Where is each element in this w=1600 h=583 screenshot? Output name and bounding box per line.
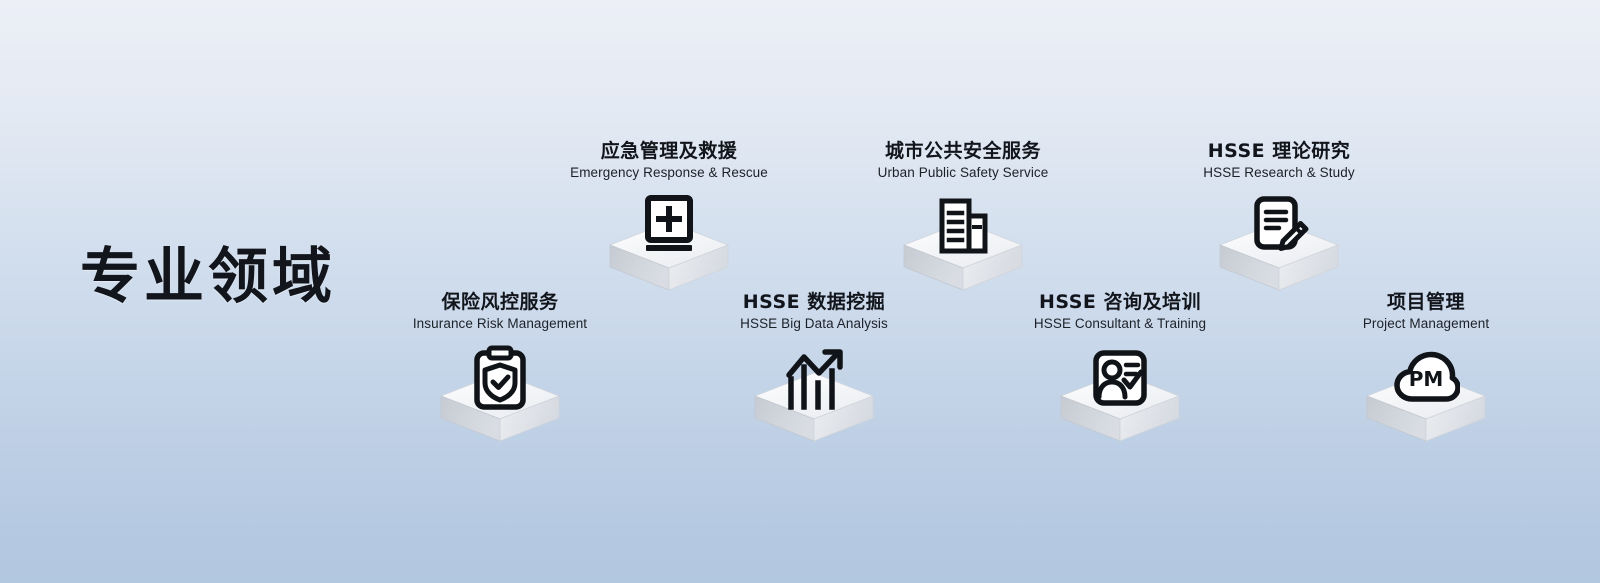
service-title-cn: HSSE 咨询及培训 xyxy=(990,291,1250,313)
service-item-hsse-research[interactable]: HSSE 理论研究HSSE Research & Study xyxy=(1149,140,1409,304)
service-title-en: Project Management xyxy=(1296,315,1556,333)
service-item-emergency-response[interactable]: 应急管理及救援Emergency Response & Rescue xyxy=(539,140,799,304)
service-title-en: Emergency Response & Rescue xyxy=(539,164,799,182)
buildings-icon xyxy=(929,194,997,262)
cloud-pm-label: PM xyxy=(1409,367,1444,391)
service-title-cn: HSSE 理论研究 xyxy=(1149,140,1409,162)
service-title-en: HSSE Big Data Analysis xyxy=(684,315,944,333)
service-item-hsse-consultant[interactable]: HSSE 咨询及培训HSSE Consultant & Training xyxy=(990,291,1250,455)
service-title-en: Insurance Risk Management xyxy=(370,315,630,333)
id-card-person-check-icon xyxy=(1086,345,1154,413)
service-icon-platform xyxy=(990,345,1250,455)
first-aid-kit-icon xyxy=(635,194,703,262)
service-icon-platform xyxy=(370,345,630,455)
page-title: 专业领域 xyxy=(80,228,336,315)
service-icon-platform: PM xyxy=(1296,345,1556,455)
service-icon-platform xyxy=(833,194,1093,304)
service-icon-platform xyxy=(1149,194,1409,304)
cloud-pm-icon: PM xyxy=(1392,345,1460,413)
service-item-project-management[interactable]: 项目管理Project Management PM xyxy=(1296,291,1556,455)
service-item-hsse-big-data[interactable]: HSSE 数据挖掘HSSE Big Data Analysis xyxy=(684,291,944,455)
service-title-cn: HSSE 数据挖掘 xyxy=(684,291,944,313)
service-item-urban-public-safety[interactable]: 城市公共安全服务Urban Public Safety Service xyxy=(833,140,1093,304)
clipboard-shield-check-icon xyxy=(466,345,534,413)
service-title-cn: 城市公共安全服务 xyxy=(833,140,1093,162)
service-title-en: HSSE Research & Study xyxy=(1149,164,1409,182)
document-pencil-icon xyxy=(1245,194,1313,262)
service-icon-platform xyxy=(539,194,799,304)
service-title-cn: 项目管理 xyxy=(1296,291,1556,313)
service-title-cn: 应急管理及救援 xyxy=(539,140,799,162)
service-title-cn: 保险风控服务 xyxy=(370,291,630,313)
bar-chart-trend-icon xyxy=(780,345,848,413)
service-title-en: Urban Public Safety Service xyxy=(833,164,1093,182)
service-icon-platform xyxy=(684,345,944,455)
infographic-stage: 专业领域 应急管理及救援Emergency Response & Rescue xyxy=(0,0,1600,583)
service-title-en: HSSE Consultant & Training xyxy=(990,315,1250,333)
service-item-insurance-risk[interactable]: 保险风控服务Insurance Risk Management xyxy=(370,291,630,455)
